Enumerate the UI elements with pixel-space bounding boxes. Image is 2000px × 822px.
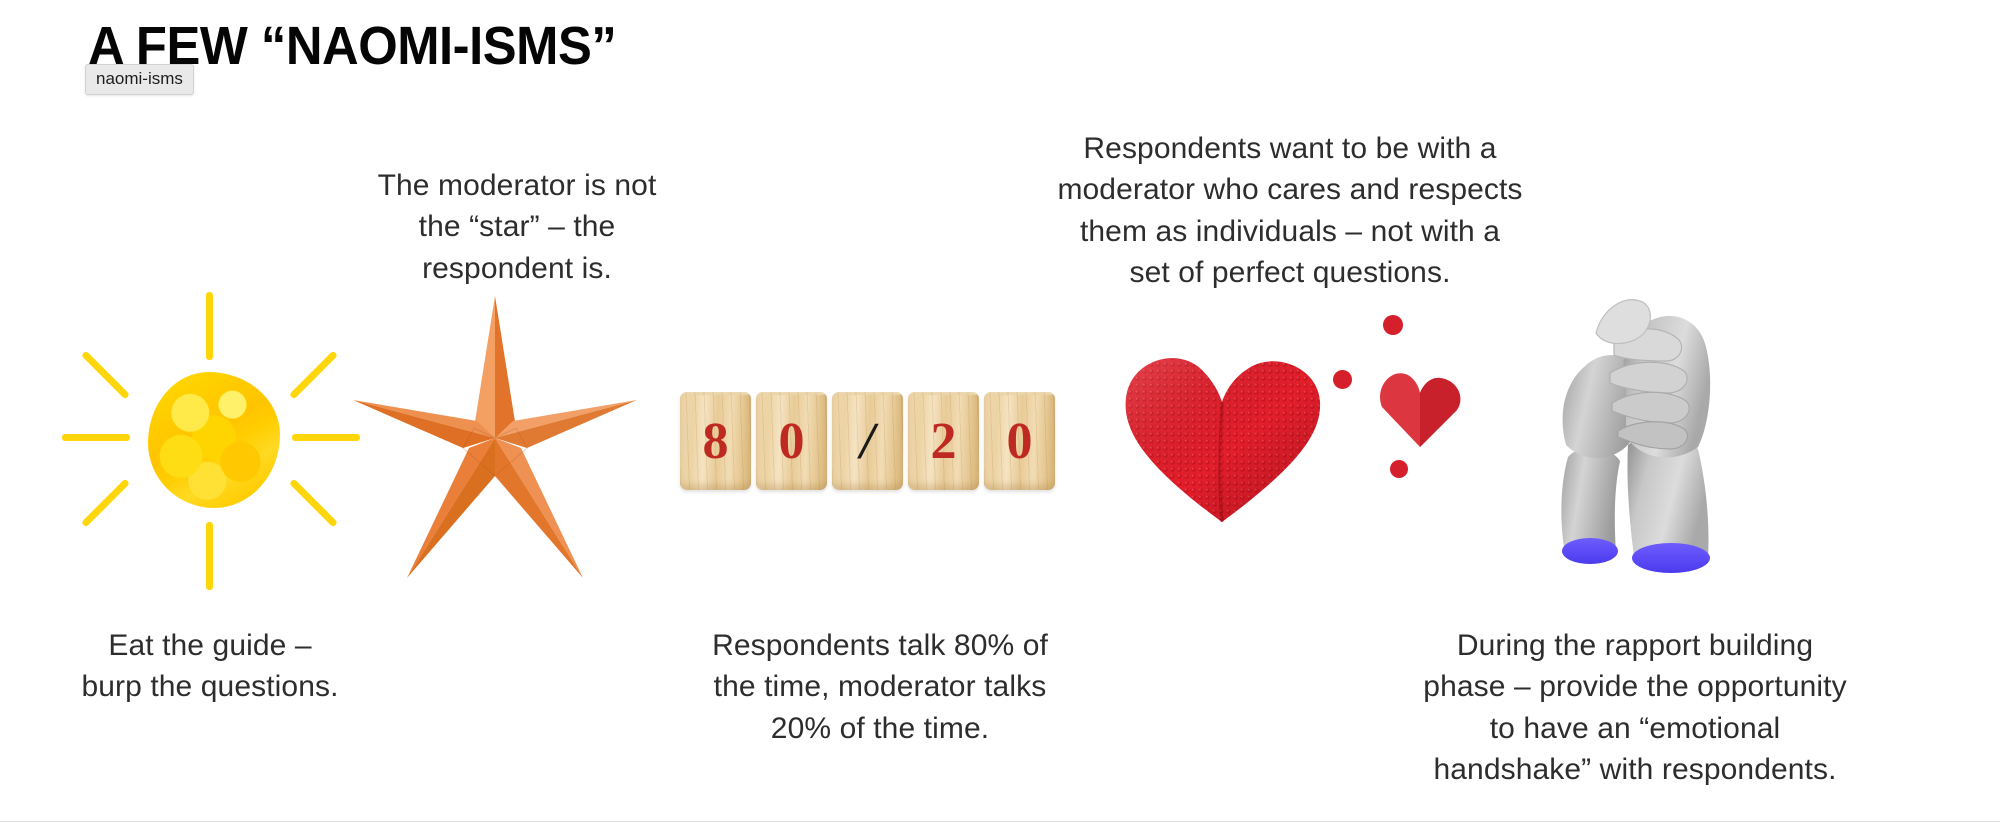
wooden-block: 8: [680, 392, 751, 490]
crumpled-paper-ball: [148, 372, 280, 508]
origami-star-icon: [345, 288, 645, 588]
wooden-blocks-80-20-icon: 8 0 / 2 0: [680, 380, 1060, 492]
block-glyph: 0: [779, 412, 805, 471]
block-glyph: 8: [703, 412, 729, 471]
naomi-isms-tooltip: naomi-isms: [85, 64, 194, 95]
column-2-top-text: The moderator is not the “star” – the re…: [312, 165, 722, 289]
block-glyph: 2: [931, 412, 957, 471]
clasped-hands-icon: [1540, 285, 1755, 580]
column-5-bottom-text: During the rapport building phase – prov…: [1370, 625, 1900, 791]
block-glyph: 0: [1007, 412, 1033, 471]
wooden-block: 2: [908, 392, 979, 490]
column-3-bottom-text: Respondents talk 80% of the time, modera…: [655, 625, 1105, 749]
accent-dot: [1390, 460, 1408, 478]
knitted-heart-icon: [1120, 315, 1470, 565]
accent-dot: [1383, 315, 1403, 335]
accent-dot: [1333, 370, 1352, 389]
wooden-block: 0: [984, 392, 1055, 490]
wooden-block: 0: [756, 392, 827, 490]
slide-canvas: A FEW “NAOMI-ISMS” naomi-isms The modera…: [0, 0, 2000, 822]
cut-end-right: [1632, 543, 1710, 573]
paper-heart-icon: [1378, 365, 1464, 449]
block-glyph: /: [860, 412, 874, 471]
crumpled-paper-sun-icon: [70, 300, 350, 580]
wooden-block: /: [832, 392, 903, 490]
column-1-bottom-text: Eat the guide – burp the questions.: [10, 625, 410, 708]
cut-end-left: [1562, 538, 1618, 564]
column-4-top-text: Respondents want to be with a moderator …: [1010, 128, 1570, 294]
